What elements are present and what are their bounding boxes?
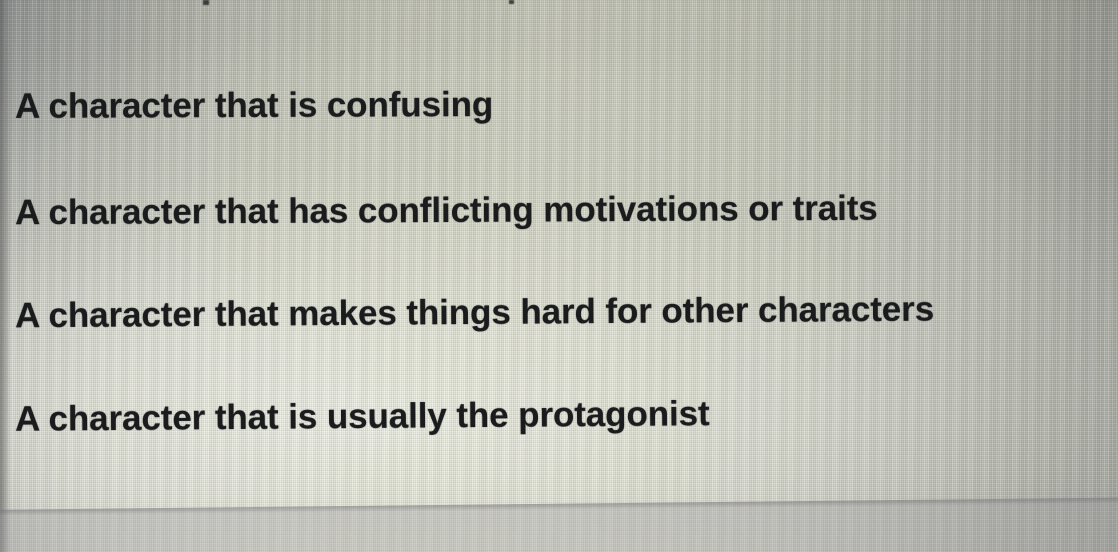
answer-options-list: A character that is confusing A characte… [0,0,1118,552]
answer-option-2[interactable]: A character that has conflicting motivat… [15,188,878,235]
answer-option-4[interactable]: A character that is usually the protagon… [15,393,710,441]
answer-option-3[interactable]: A character that makes things hard for o… [15,289,934,338]
answer-option-1[interactable]: A character that is confusing [15,84,493,128]
screen-photograph: A character that is confusing A characte… [0,0,1118,552]
